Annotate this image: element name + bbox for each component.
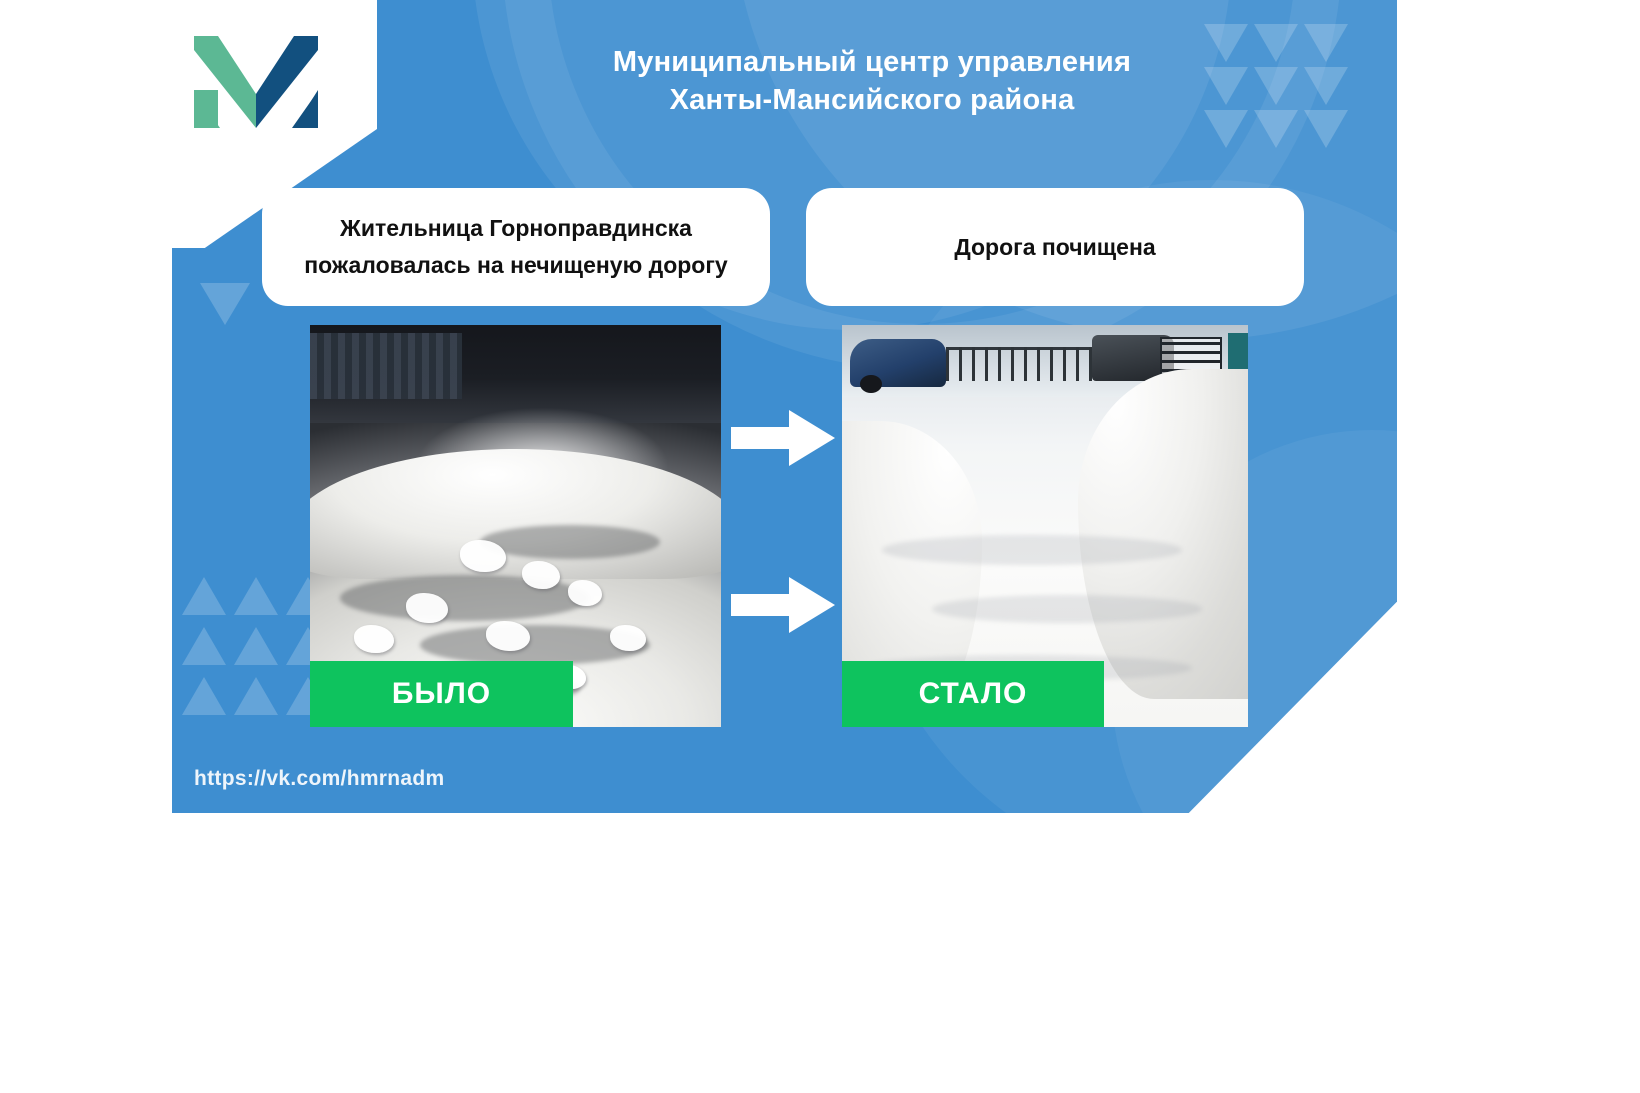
photo-after-car [850,339,946,387]
poster-card: Муниципальный центр управления Ханты-Ман… [172,0,1397,813]
arrow-head [789,410,835,466]
photo-after-track [882,535,1182,565]
footer-url[interactable]: https://vk.com/hmrnadm [194,767,444,791]
photo-before-snow-chunk [460,540,506,572]
caption-card-before: Жительница Горноправдинска пожаловалась … [262,188,770,306]
photo-before-snow-chunk [406,593,448,623]
page-title-line2: Ханты-Мансийского района [462,82,1282,120]
triangle-up-icon [182,577,226,615]
triangle-down-icon [1304,110,1348,148]
photo-after-fence [946,347,1096,381]
photo-after-snow-bank-right [1078,369,1248,699]
caption-before-line2: пожаловалась на нечищеную дорогу [304,247,727,284]
photo-before-snow-chunk [522,561,560,589]
photo-before-snow-chunk [486,621,530,651]
arrow-right-icon-top [731,410,835,466]
arrow-head [789,577,835,633]
mcu-logo-icon [194,28,318,136]
photo-after-building [1228,333,1248,373]
page-title: Муниципальный центр управления Ханты-Ман… [462,44,1282,119]
arrow-right-icon-bottom [731,577,835,633]
photo-before-snow-chunk [568,580,602,606]
triangle-up-icon [182,677,226,715]
triangle-down-icon [1304,67,1348,105]
badge-after-label: СТАЛО [919,677,1028,711]
photo-after-track [932,595,1202,623]
badge-before-label: БЫЛО [392,677,491,711]
badge-after: СТАЛО [842,661,1104,727]
photo-after: СТАЛО [842,325,1248,727]
triangle-up-icon [234,627,278,665]
triangle-down-icon [200,283,250,325]
photo-before-snow-chunk [610,625,646,651]
triangle-up-icon [234,677,278,715]
triangle-down-icon [1304,24,1348,62]
photo-before-wall [310,333,462,399]
arrow-shaft [731,427,795,449]
badge-before: БЫЛО [310,661,573,727]
caption-after-line1: Дорога почищена [954,229,1155,266]
photo-before: БЫЛО [310,325,721,727]
triangle-up-icon [234,577,278,615]
caption-card-after: Дорога почищена [806,188,1304,306]
triangle-up-icon [182,627,226,665]
page-title-line1: Муниципальный центр управления [462,44,1282,82]
photo-before-snow-bank [310,449,721,579]
photo-before-rut [480,525,660,559]
photo-before-snow-chunk [354,625,394,653]
arrow-shaft [731,594,795,616]
caption-before-line1: Жительница Горноправдинска [304,210,727,247]
